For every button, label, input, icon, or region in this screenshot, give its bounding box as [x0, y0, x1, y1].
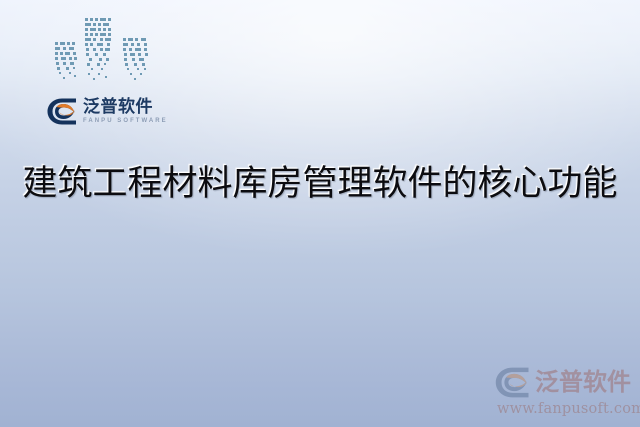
watermark-logo-row: 泛普软件 — [495, 364, 635, 400]
pixel-city-skyline-icon — [45, 12, 175, 90]
company-name-block: 泛普软件 FANPU SOFTWARE — [83, 98, 168, 124]
company-name-en: FANPU SOFTWARE — [83, 118, 168, 124]
company-name-cn: 泛普软件 — [83, 98, 168, 116]
page-title: 建筑工程材料库房管理软件的核心功能 — [0, 164, 640, 205]
fanpu-swoosh-logo-icon — [47, 98, 78, 125]
brand-block: 泛普软件 FANPU SOFTWARE — [45, 12, 175, 128]
slide-canvas: 泛普软件 FANPU SOFTWARE 建筑工程材料库房管理软件的核心功能 泛普… — [0, 0, 640, 427]
company-logo: 泛普软件 FANPU SOFTWARE — [47, 94, 173, 128]
fanpu-swoosh-logo-icon — [495, 367, 531, 398]
watermark-company-name: 泛普软件 — [535, 370, 631, 394]
watermark-url: www.fanpusoft.com — [497, 401, 635, 417]
watermark: 泛普软件 www.fanpusoft.com — [495, 364, 635, 420]
